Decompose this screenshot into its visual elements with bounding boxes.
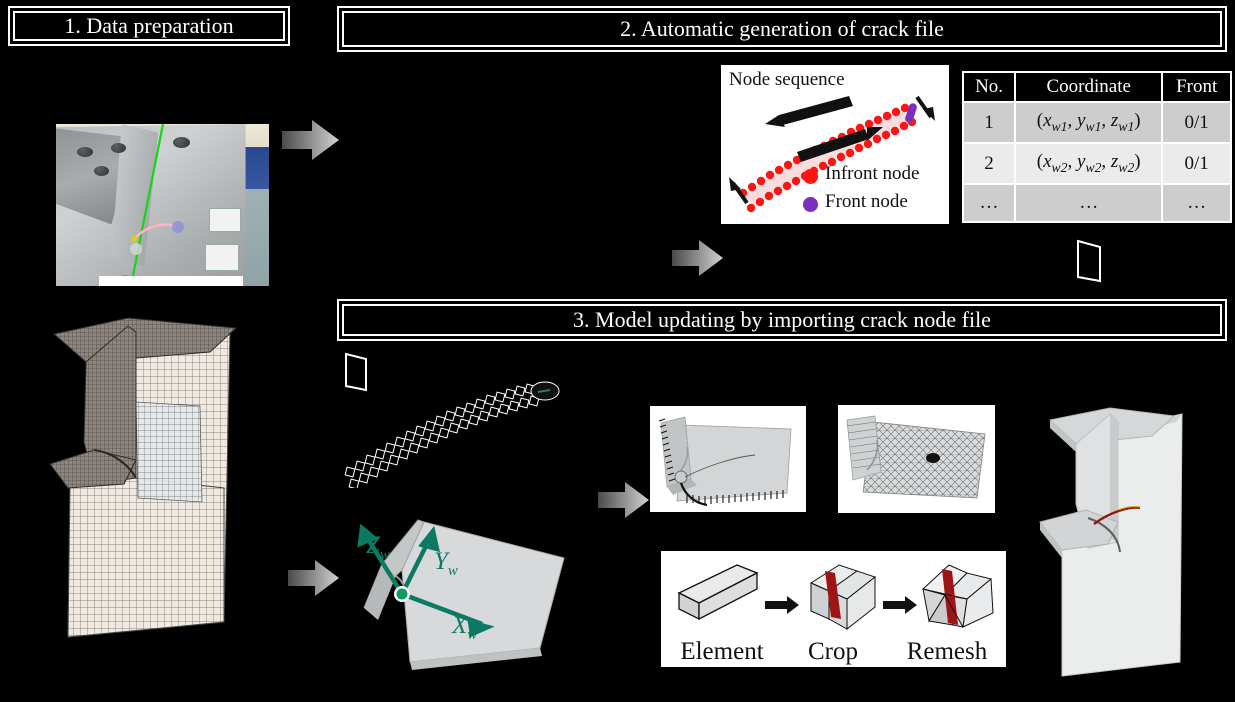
cell-no: … xyxy=(964,185,1014,221)
cell-coordinate: … xyxy=(1016,185,1161,221)
flow-arrow-3 xyxy=(288,558,340,598)
cell-front: 0/1 xyxy=(1163,144,1230,183)
mesh-view-a-graphic xyxy=(651,407,805,511)
mesh-view-b-graphic xyxy=(839,406,994,512)
coord-z-sub: w2 xyxy=(1118,160,1134,175)
flow-arrow-2 xyxy=(672,238,724,278)
axis-x-name: X xyxy=(452,612,467,639)
cell-front: … xyxy=(1163,185,1230,221)
cell-no: 2 xyxy=(964,144,1014,183)
crack-node-cloud-graphic xyxy=(340,358,590,488)
remesh-caption-crop: Crop xyxy=(783,638,883,666)
axis-label-y: Yw xyxy=(434,548,458,580)
figure-canvas: 1. Data preparation 2. Automatic generat… xyxy=(0,0,1235,702)
section-header-2: 2. Automatic generation of crack file xyxy=(337,6,1227,52)
table-header-no: No. xyxy=(964,73,1014,101)
mesh-view-crack-inserted xyxy=(650,406,806,512)
flow-arrow-4 xyxy=(598,480,650,520)
updated-model-with-crack xyxy=(1014,392,1230,688)
axis-z-name: Z xyxy=(366,532,380,559)
section-header-2-label: 2. Automatic generation of crack file xyxy=(620,16,944,42)
coord-x-sub: w1 xyxy=(1052,119,1068,134)
fe-mesh-model-graphic xyxy=(24,292,276,664)
infront-node-legend-label: Infront node xyxy=(825,163,919,185)
table-header-front: Front xyxy=(1163,73,1230,101)
remesh-caption-remesh: Remesh xyxy=(891,638,1003,666)
flow-arrow-1 xyxy=(282,118,340,162)
infront-node-legend-dot xyxy=(803,169,818,184)
crack-file-icon xyxy=(1072,237,1108,290)
coord-y-sub: w2 xyxy=(1085,160,1101,175)
table-row: … … … xyxy=(964,185,1230,221)
node-sequence-panel: Node sequence xyxy=(719,63,951,226)
axis-label-z: Zw xyxy=(366,532,390,564)
table-row: 1 (xw1, yw1, zw1) 0/1 xyxy=(964,103,1230,142)
coord-z-sub: w1 xyxy=(1118,119,1134,134)
world-coordinate-system-diagram: Xw Yw Zw xyxy=(352,512,608,690)
coord-y-sub: w1 xyxy=(1085,119,1101,134)
photo-annotation-overlay xyxy=(56,124,269,286)
coord-x: x xyxy=(1043,110,1051,131)
section-header-1-label: 1. Data preparation xyxy=(64,13,233,39)
cell-front: 0/1 xyxy=(1163,103,1230,142)
front-node-legend-dot xyxy=(803,197,818,212)
remesh-caption-element: Element xyxy=(667,638,777,666)
photo-base-plate xyxy=(99,276,244,286)
coord-x: x xyxy=(1043,151,1051,172)
axis-y-sub: w xyxy=(448,563,458,579)
table-header-coordinate: Coordinate xyxy=(1016,73,1161,101)
cell-coordinate: (xw1, yw1, zw1) xyxy=(1016,103,1161,142)
specimen-photo-image xyxy=(56,124,269,286)
table-header-row: No. Coordinate Front xyxy=(964,73,1230,101)
remesh-procedure-panel: Element Crop Remesh xyxy=(659,549,1008,669)
section-header-3-label: 3. Model updating by importing crack nod… xyxy=(573,307,991,333)
cell-coordinate: (xw2, yw2, zw2) xyxy=(1016,144,1161,183)
mesh-view-remeshed xyxy=(838,405,995,513)
axis-z-sub: w xyxy=(380,547,390,563)
axis-x-sub: w xyxy=(467,627,477,643)
coordinate-system-graphic xyxy=(352,512,608,690)
updated-model-graphic xyxy=(1014,392,1230,688)
fe-mesh-model xyxy=(24,292,276,664)
section-header-1: 1. Data preparation xyxy=(8,6,290,46)
table-row: 2 (xw2, yw2, zw2) 0/1 xyxy=(964,144,1230,183)
front-node-legend-label: Front node xyxy=(825,191,908,213)
crack-node-cloud xyxy=(340,358,590,488)
crack-node-table: No. Coordinate Front 1 (xw1, yw1, zw1) 0… xyxy=(962,71,1232,223)
axis-y-name: Y xyxy=(434,548,448,575)
section-header-3: 3. Model updating by importing crack nod… xyxy=(337,299,1227,341)
cell-no: 1 xyxy=(964,103,1014,142)
axis-label-x: Xw xyxy=(452,612,477,644)
specimen-photo xyxy=(28,62,241,258)
coord-x-sub: w2 xyxy=(1052,160,1068,175)
